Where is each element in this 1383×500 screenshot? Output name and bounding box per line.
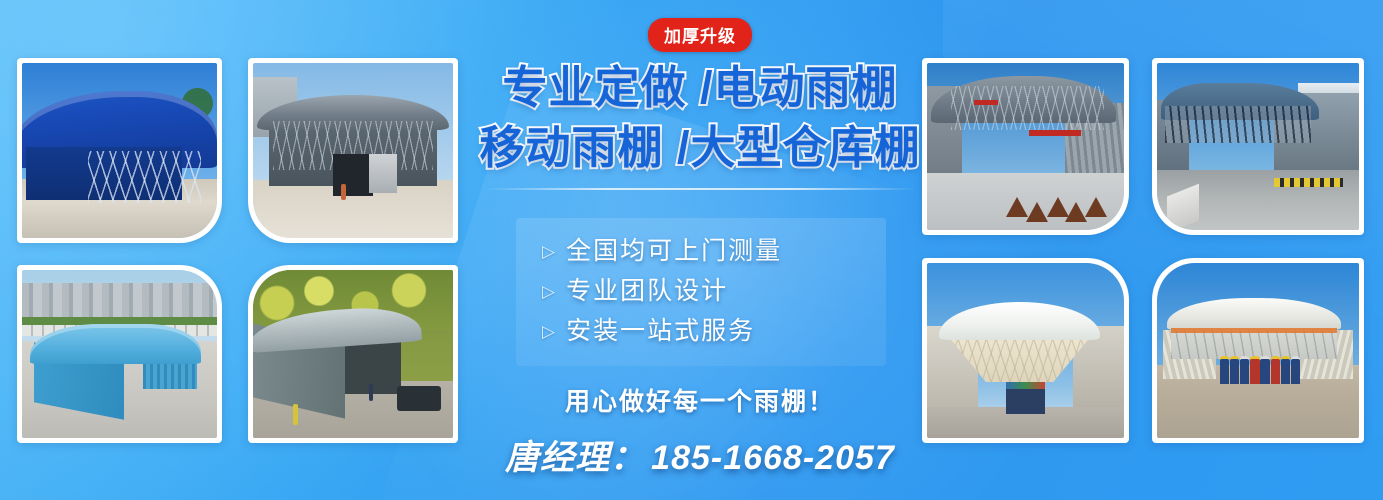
triangle-bullet-icon: ▷ (542, 323, 555, 340)
feature-label-2: 专业团队设计 (566, 273, 728, 309)
photo-right-2 (1152, 58, 1364, 235)
photo-right-1 (922, 58, 1129, 235)
photo-left-4 (248, 265, 458, 443)
photo-right-4 (1152, 258, 1364, 443)
photo-left-2 (248, 58, 458, 243)
headline-line-2: 移动雨棚 /大型仓库棚 (470, 118, 930, 178)
slogan-text: 用心做好每一个雨棚！ (470, 382, 930, 418)
feature-item-2: ▷ 专业团队设计 (516, 271, 886, 311)
thickened-upgrade-badge: 加厚升级 (648, 18, 752, 52)
feature-list: ▷ 全国均可上门测量 ▷ 专业团队设计 ▷ 安装一站式服务 (516, 218, 886, 366)
headline-line-1: 专业定做 /电动雨棚 (470, 58, 930, 118)
feature-label-1: 全国均可上门测量 (566, 233, 782, 269)
promo-banner: 加厚升级 专业定做 /电动雨棚 移动雨棚 /大型仓库棚 ▷ 全国均可上门测量 ▷… (0, 0, 1383, 500)
triangle-bullet-icon: ▷ (542, 283, 555, 300)
photo-left-3 (17, 265, 222, 443)
center-copy-column: 加厚升级 专业定做 /电动雨棚 移动雨棚 /大型仓库棚 ▷ 全国均可上门测量 ▷… (470, 0, 930, 500)
contact-name: 唐经理： (505, 439, 645, 477)
feature-label-3: 安装一站式服务 (566, 313, 755, 349)
headline-block: 专业定做 /电动雨棚 移动雨棚 /大型仓库棚 (470, 58, 930, 178)
contact-phone-number[interactable]: 185-1668-2057 (651, 439, 895, 477)
photo-left-1 (17, 58, 222, 243)
triangle-bullet-icon: ▷ (542, 243, 555, 260)
feature-item-3: ▷ 安装一站式服务 (516, 311, 886, 351)
photo-right-3 (922, 258, 1129, 443)
contact-line[interactable]: 唐经理：185-1668-2057 (470, 430, 930, 479)
headline-divider (484, 188, 916, 190)
feature-item-1: ▷ 全国均可上门测量 (516, 231, 886, 271)
